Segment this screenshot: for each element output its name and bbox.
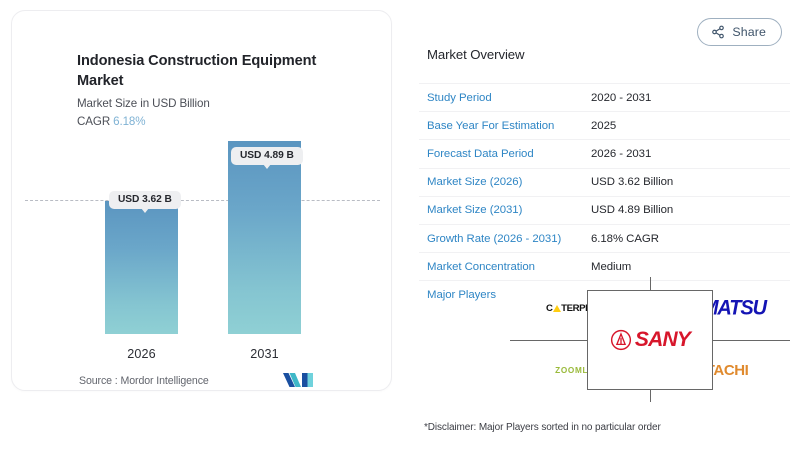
cagr-label: CAGR	[77, 115, 110, 128]
row-value: 2026 - 2031	[591, 148, 651, 160]
player-sany-box: SANY	[587, 290, 713, 390]
cagr-value: 6.18%	[113, 115, 145, 128]
chart-cagr: CAGR6.18%	[77, 115, 145, 128]
row-value: 6.18% CAGR	[591, 233, 659, 245]
row-key: Growth Rate (2026 - 2031)	[419, 233, 591, 245]
table-row: Market Size (2026) USD 3.62 Billion	[419, 169, 790, 197]
sany-logo-text: SANY	[635, 328, 690, 352]
market-overview-title: Market Overview	[427, 47, 524, 62]
table-row: Study Period 2020 - 2031	[419, 83, 790, 112]
table-row: Base Year For Estimation 2025	[419, 112, 790, 140]
bar-2031[interactable]	[228, 141, 301, 334]
row-value: USD 3.62 Billion	[591, 176, 673, 188]
x-axis-label-2031: 2031	[228, 347, 301, 361]
row-value: USD 4.89 Billion	[591, 204, 673, 216]
row-key: Market Size (2026)	[419, 176, 591, 188]
chart-title: Indonesia Construction Equipment Market	[77, 52, 322, 91]
chart-source: Source : Mordor Intelligence	[79, 375, 209, 387]
bar-2026[interactable]	[105, 201, 178, 334]
table-row: Market Size (2031) USD 4.89 Billion	[419, 197, 790, 225]
bar-2031-fill	[228, 141, 301, 334]
table-row: Forecast Data Period 2026 - 2031	[419, 140, 790, 168]
row-value: 2025	[591, 120, 616, 132]
row-key: Market Concentration	[419, 261, 591, 273]
row-key: Market Size (2031)	[419, 204, 591, 216]
sany-logo: SANY	[610, 328, 690, 352]
major-players-grid: CTERPILLAR® KOMATSU ZOOMLION HITACHI SAN…	[510, 277, 790, 402]
reference-dashed-line	[25, 200, 380, 201]
share-nodes-icon	[711, 25, 725, 39]
share-button[interactable]: Share	[697, 18, 782, 46]
chart-card: Indonesia Construction Equipment Market …	[11, 10, 392, 391]
x-axis-label-2026: 2026	[105, 347, 178, 361]
row-key: Base Year For Estimation	[419, 120, 591, 132]
disclaimer-text: *Disclaimer: Major Players sorted in no …	[424, 422, 661, 433]
table-row: Growth Rate (2026 - 2031) 6.18% CAGR	[419, 225, 790, 253]
row-value: 2020 - 2031	[591, 92, 651, 104]
bar-value-badge-2026: USD 3.62 B	[109, 191, 181, 209]
bar-value-badge-2031: USD 4.89 B	[231, 147, 303, 165]
market-overview-table: Study Period 2020 - 2031 Base Year For E…	[419, 83, 790, 309]
row-key: Study Period	[419, 92, 591, 104]
caterpillar-triangle-icon	[553, 305, 561, 312]
row-key: Forecast Data Period	[419, 148, 591, 160]
mordor-intelligence-logo	[282, 372, 316, 388]
row-value: Medium	[591, 261, 631, 273]
chart-subtitle: Market Size in USD Billion	[77, 97, 210, 110]
share-button-label: Share	[732, 25, 766, 39]
bar-2026-fill	[105, 201, 178, 334]
sany-emblem-icon	[610, 329, 632, 351]
